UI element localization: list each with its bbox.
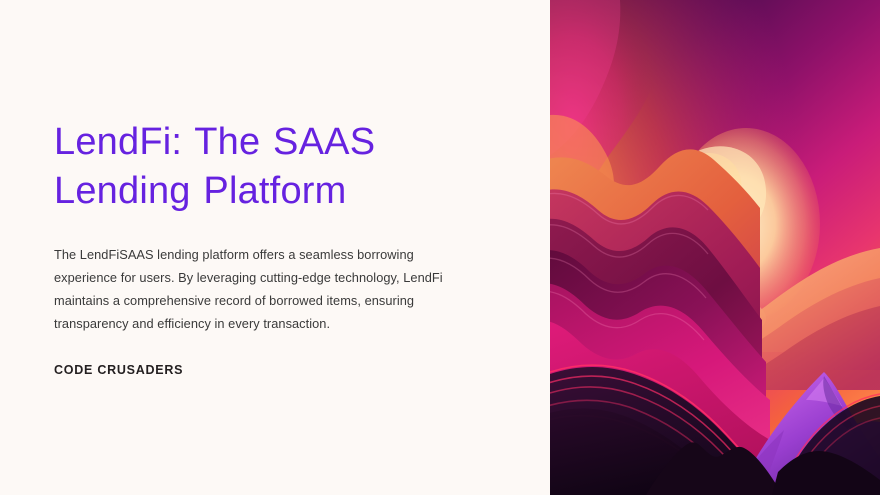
text-panel: LendFi: The SAAS Lending Platform The Le… (0, 0, 550, 495)
team-kicker-label: CODE CRUSADERS (54, 363, 490, 377)
page-title: LendFi: The SAAS Lending Platform (54, 118, 414, 217)
body-paragraph: The LendFiSAAS lending platform offers a… (54, 243, 464, 335)
slide-root: LendFi: The SAAS Lending Platform The Le… (0, 0, 880, 495)
abstract-sunset-landscape-image (550, 0, 880, 495)
hero-artwork-panel (550, 0, 880, 495)
